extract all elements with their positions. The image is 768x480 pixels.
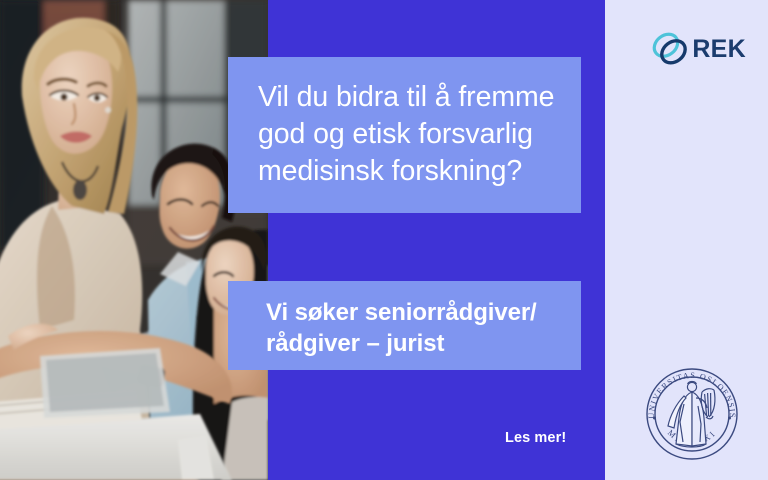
job-title-text: Vi søker seniorrådgiver/ rådgiver – juri… [266,297,561,359]
rek-wordmark: REK [692,35,746,64]
uio-seal-graphic: UNIVERSITAS OSLOENSIS MDCCCXI [640,362,744,466]
rek-logo[interactable]: REK [650,26,746,72]
job-title-box: Vi søker seniorrådgiver/ rådgiver – juri… [228,281,581,370]
rek-recruitment-banner: Vil du bidra til å fremme god og etisk f… [0,0,768,480]
read-more-link[interactable]: Les mer! [505,430,566,446]
headline-text: Vil du bidra til å fremme god og etisk f… [258,79,555,190]
uio-seal: UNIVERSITAS OSLOENSIS MDCCCXI [640,362,744,466]
headline-box: Vil du bidra til å fremme god og etisk f… [228,57,581,213]
rek-interlocking-rings-icon [650,27,691,71]
